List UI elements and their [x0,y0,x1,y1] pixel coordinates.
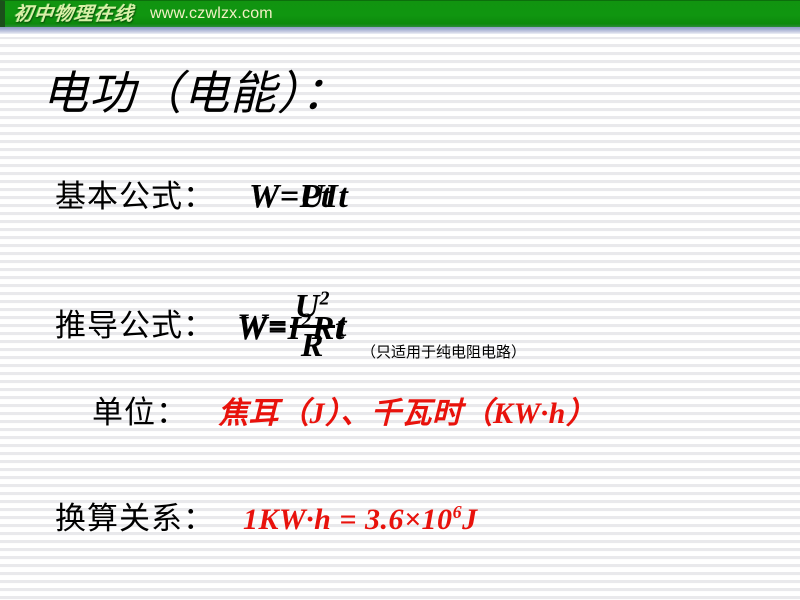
formula-derived-b-t: t [337,307,347,344]
row-conversion: 换算关系： 1KW·h = 3.6×106J [55,500,478,539]
row-unit: 单位： 焦耳（J）、千瓦时（KW·h） [92,394,596,433]
formula-basic-b-w: W [249,178,280,215]
formula-derived-layer-u2rt: W=U2Rt [237,292,347,365]
note-derived-formula: （只适用于纯电阻电路） [361,344,526,362]
label-derived-formula: 推导公式： [55,307,215,345]
site-banner: 初中物理在线 www.czwlzx.com [0,0,800,27]
formula-basic-b-equals: = [280,178,300,215]
formula-derived-b-fraction: U2R [290,290,335,363]
site-url-label: www.czwlzx.com [150,6,273,22]
conversion-tail: J [462,503,478,536]
banner-white-divider [0,34,800,37]
fraction-denominator: R [290,328,335,363]
formula-basic-layer-wuit: W=UIt [249,178,348,216]
page-title: 电功（电能）： [42,66,348,122]
formula-derived-b-equals: = [268,307,288,344]
label-unit: 单位： [92,394,188,432]
formula-derived-b-w: W [237,307,268,344]
site-logo-text: 初中物理在线 [13,5,135,24]
value-conversion: 1KW·h = 3.6×106J [243,501,478,539]
conversion-lead: 1KW·h = 3.6×10 [243,503,453,536]
fraction-numerator: U2 [290,290,335,328]
value-unit: 焦耳（J）、千瓦时（KW·h） [218,395,596,433]
fraction-numerator-u: U [295,288,320,325]
formula-basic-b-uit: UIt [300,178,349,215]
conversion-exponent: 6 [453,502,463,522]
formula-basic-overlap: W=UIt W=Pt W=UIt [249,178,348,216]
label-basic-formula: 基本公式： [55,178,215,216]
formula-derived-overlap: W=U2Rt W=I2Rt W=U2Rt [237,292,347,365]
row-basic-formula: 基本公式： W=UIt W=Pt W=UIt [55,178,348,216]
fraction-numerator-exponent: 2 [320,288,330,310]
label-conversion: 换算关系： [55,500,215,538]
slide-canvas: 初中物理在线 www.czwlzx.com 电功（电能）： 基本公式： W=UI… [0,0,800,600]
banner-gradient-divider [0,27,800,34]
row-derived-formula: 推导公式： W=U2Rt W=I2Rt W=U2Rt （只适用于纯电阻电路） [55,292,526,365]
